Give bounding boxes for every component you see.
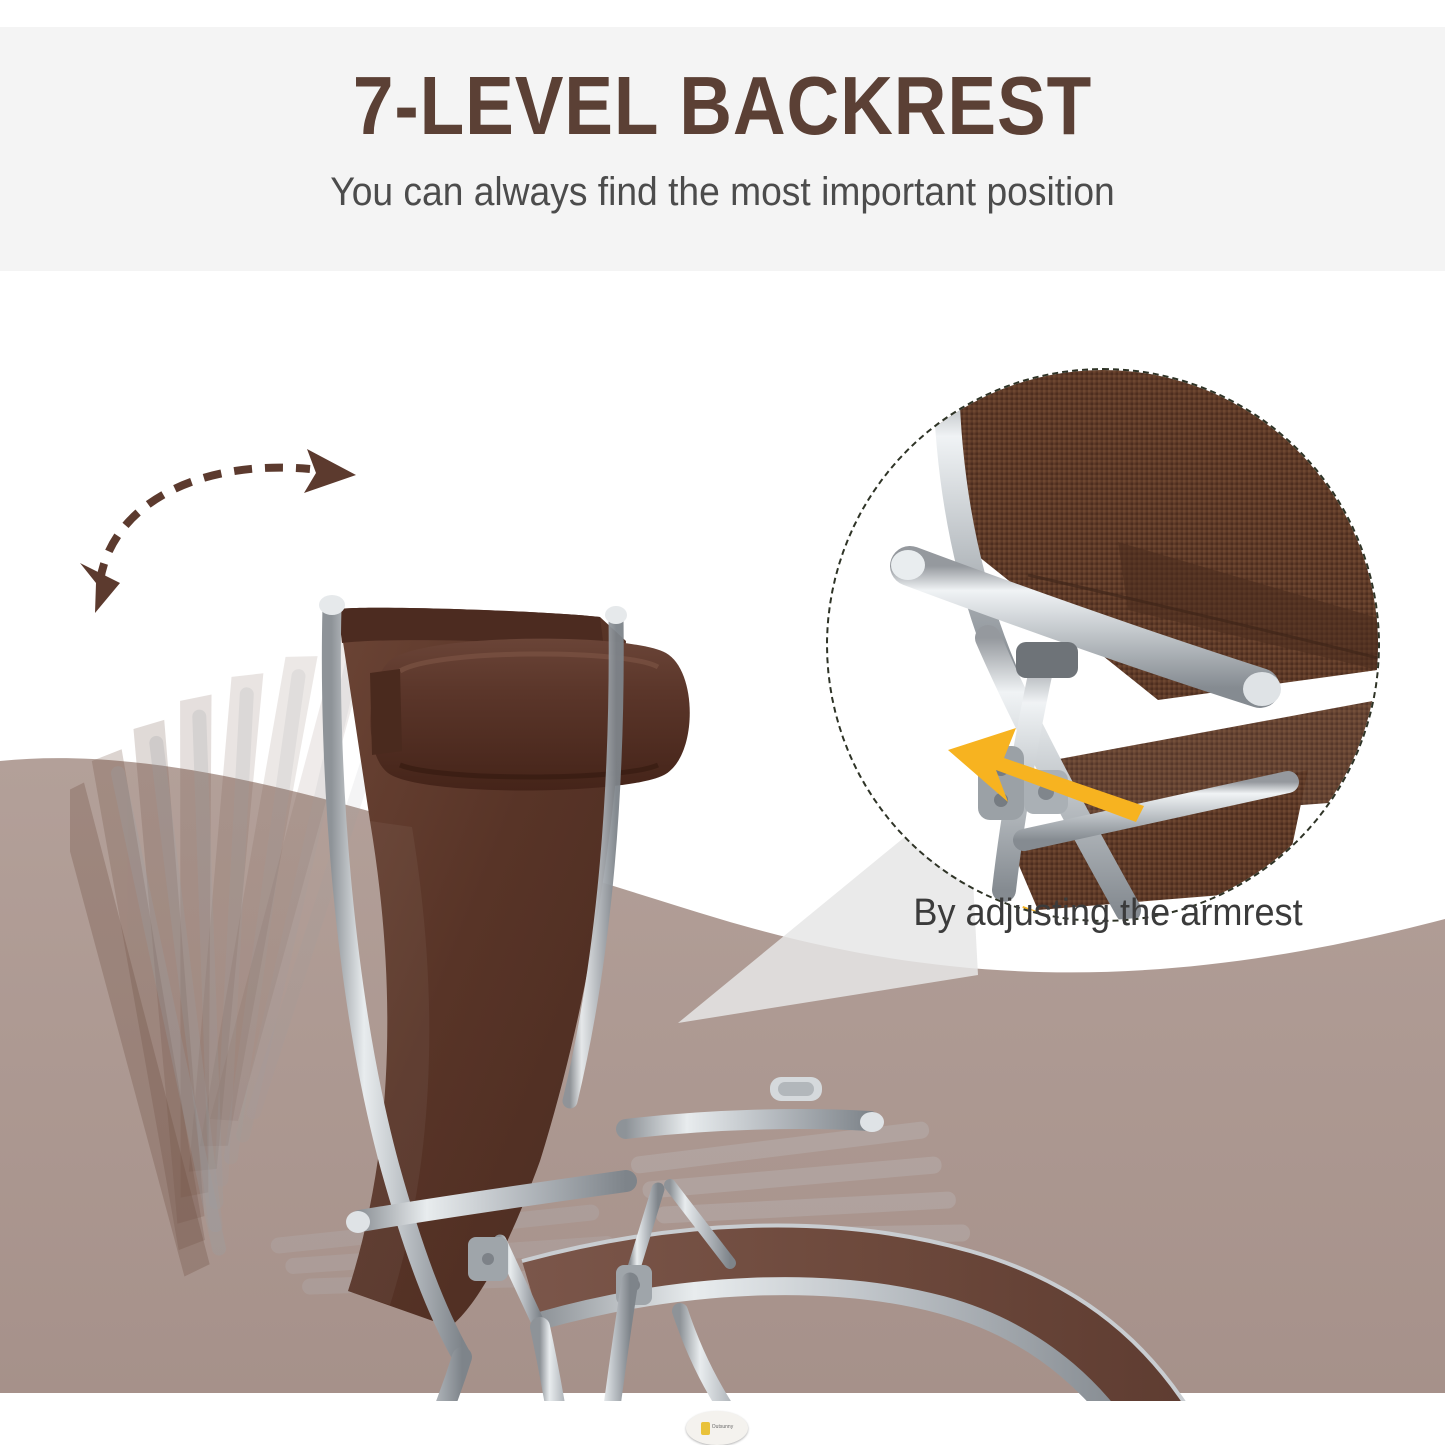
seat-buckle: [770, 1077, 822, 1101]
inset-caption: By adjusting the armrest: [842, 894, 1374, 932]
front-left-leg: [386, 1357, 462, 1401]
brand-icon: [701, 1422, 710, 1435]
front-right-leg: [540, 1327, 578, 1401]
armrest-rear: [626, 1112, 884, 1132]
page-subtitle: You can always find the most important p…: [51, 172, 1395, 212]
product-scene: Outsunny: [0, 271, 1445, 1445]
brand-label-text: Outsunny: [712, 1425, 733, 1431]
inset-photo: [828, 370, 1378, 920]
armrest-detail-inset: [828, 370, 1378, 920]
infographic-root: 7-LEVEL BACKREST You can always find the…: [0, 0, 1445, 1445]
brand-label: Outsunny: [686, 1411, 748, 1445]
page-title: 7-LEVEL BACKREST: [87, 64, 1359, 147]
headrest-pillow: [370, 639, 690, 791]
